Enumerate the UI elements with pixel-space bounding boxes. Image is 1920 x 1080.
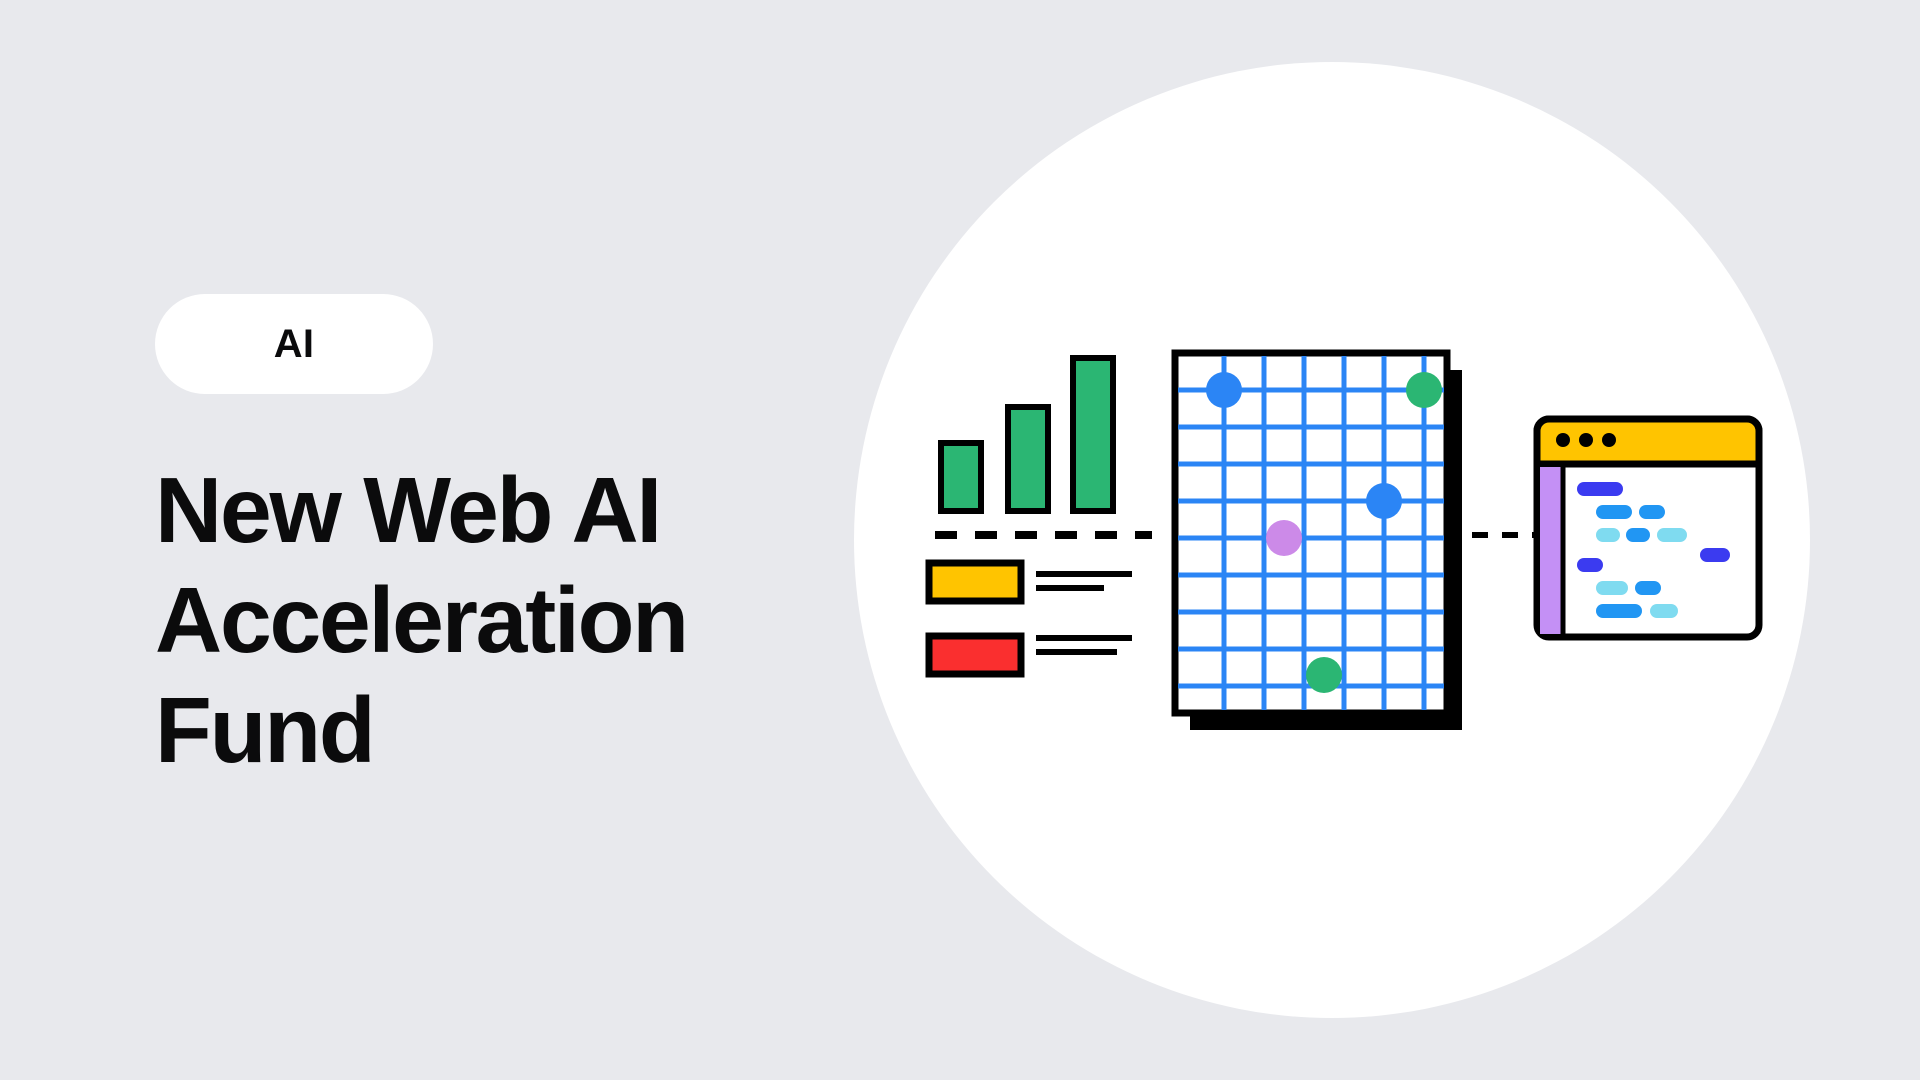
code-lines [1577,482,1730,618]
grid-panel-card [1175,353,1447,713]
bar-chart-bar-2 [1008,407,1048,511]
code-line-pill [1596,581,1628,595]
bar-chart-bar-1 [941,443,981,511]
legend-swatch-yellow [929,563,1021,601]
code-window-titlebar [1537,419,1759,464]
code-line-pill [1639,505,1665,519]
grid-lines-horizontal [1178,390,1444,686]
illustration-backdrop-circle [854,62,1810,1018]
code-window-dot-1 [1556,433,1570,447]
legend [929,563,1132,674]
code-line-pill [1596,505,1632,519]
code-window-dot-3 [1602,433,1616,447]
code-window-dot-2 [1579,433,1593,447]
grid-scatter-panel [1175,353,1462,730]
code-window-frame [1537,419,1759,637]
legend-item-red [929,636,1132,674]
code-line-pill [1596,528,1620,542]
grid-panel-shadow [1190,370,1462,730]
grid-point-green-1 [1406,372,1442,408]
bar-chart [941,358,1113,511]
code-line-pill [1635,581,1661,595]
page-title: New Web AI Acceleration Fund [155,456,687,785]
code-line-pill [1577,482,1623,496]
code-line-pill [1700,548,1730,562]
legend-swatch-red [929,636,1021,674]
grid-point-blue-1 [1206,372,1242,408]
grid-point-blue-2 [1366,483,1402,519]
grid-point-green-2 [1306,657,1342,693]
grid-lines-vertical [1224,356,1424,710]
code-line-pill [1577,558,1603,572]
legend-item-yellow [929,563,1132,601]
code-line-pill [1657,528,1687,542]
category-badge[interactable]: AI [155,294,433,394]
code-window [1537,419,1759,637]
code-line-pill [1626,528,1650,542]
grid-data-points [1206,372,1442,693]
category-badge-label: AI [274,324,314,364]
hero-text-column: AI New Web AI Acceleration Fund [155,0,835,1080]
code-window-sidebar [1540,467,1562,634]
code-line-pill [1596,604,1642,618]
grid-point-purple-1 [1266,520,1302,556]
code-line-pill [1650,604,1678,618]
bar-chart-bar-3 [1073,358,1113,511]
